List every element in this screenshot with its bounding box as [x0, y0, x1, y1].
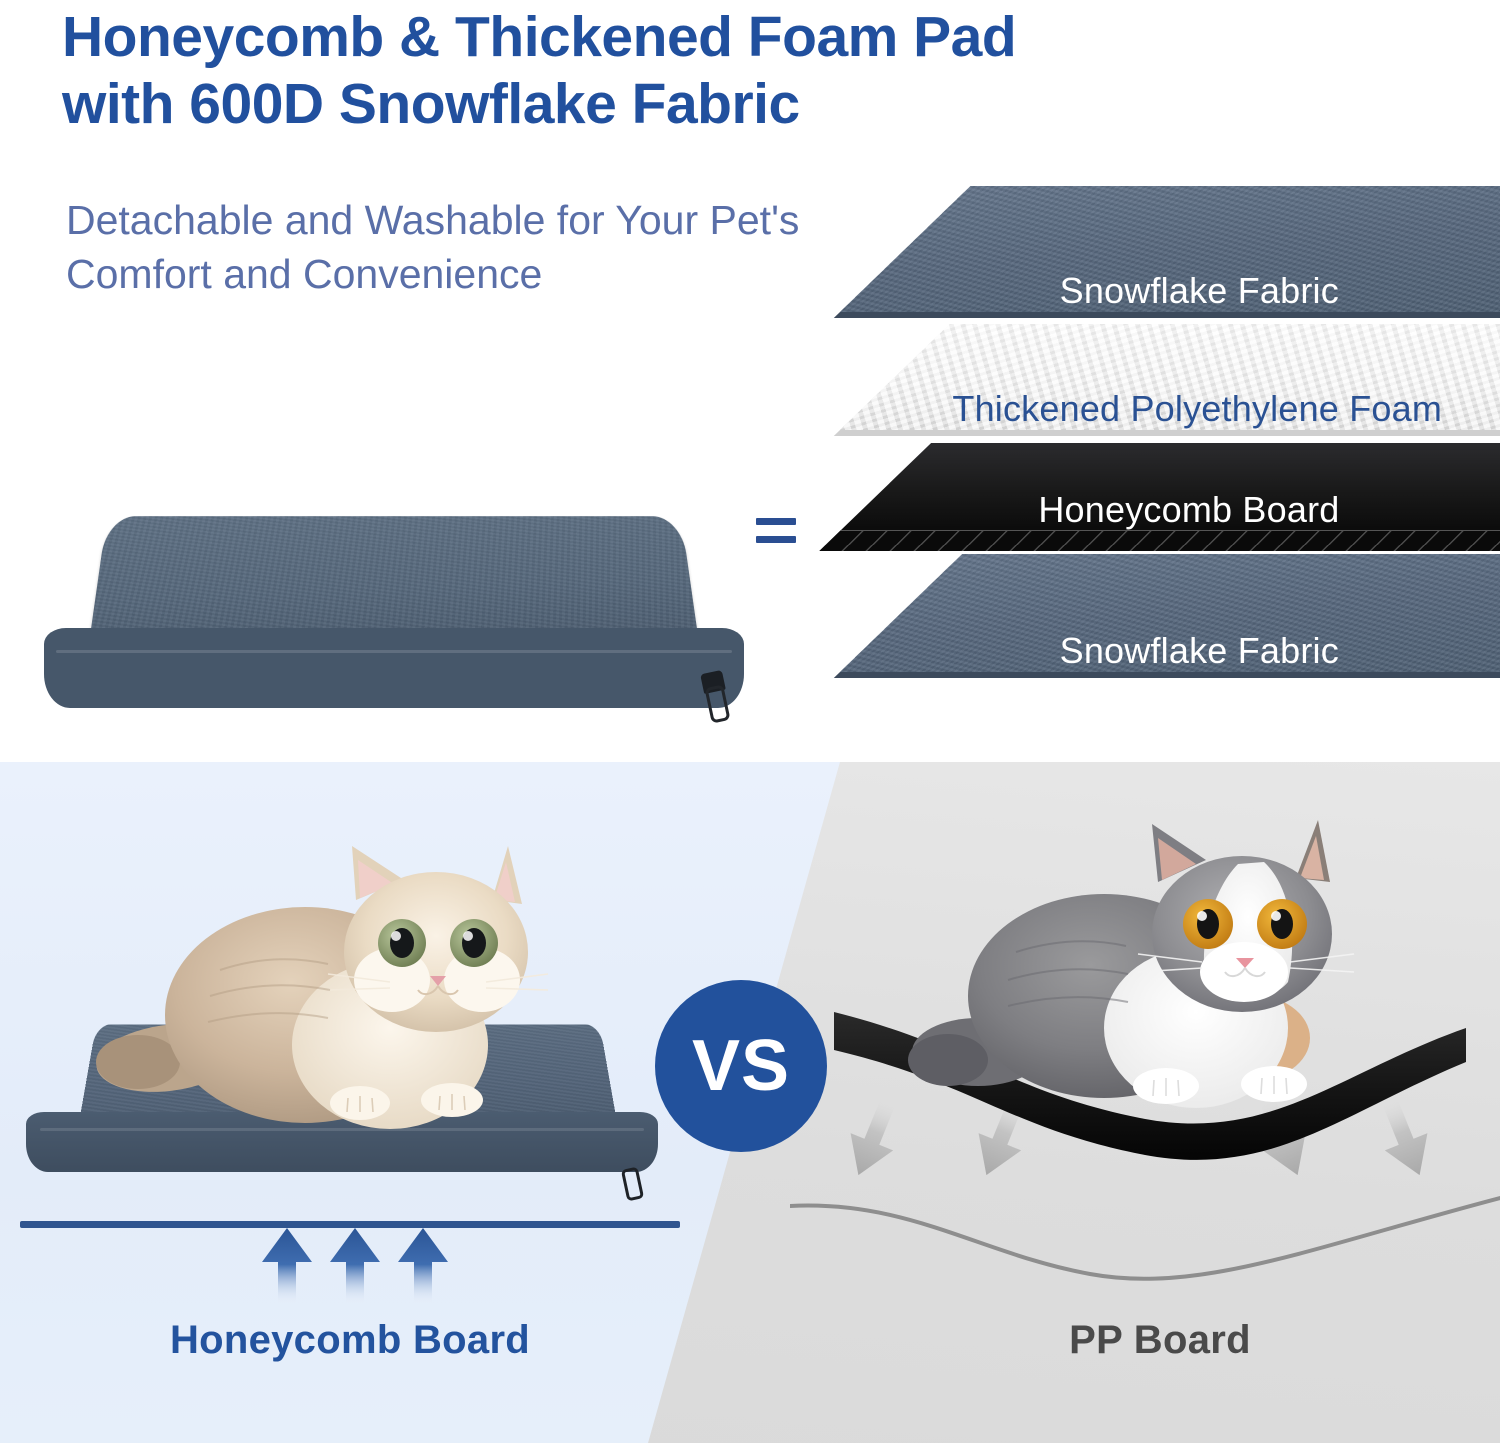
equals-icon: [756, 518, 796, 543]
zipper-pull-icon: [621, 1167, 644, 1202]
equals-bar-bottom: [756, 536, 796, 543]
layer-label-0: Snowflake Fabric: [819, 186, 1500, 332]
mat-side-edge: [44, 628, 744, 708]
equals-bar-top: [756, 518, 796, 525]
right-comparison-scene: [800, 762, 1500, 1282]
gray-cat-image: [866, 806, 1426, 1116]
page-subtitle-line2: Comfort and Convenience: [66, 247, 946, 301]
vs-badge: VS: [655, 980, 827, 1152]
right-caption: PP Board: [940, 1318, 1380, 1363]
left-caption: Honeycomb Board: [124, 1318, 576, 1363]
left-comparison-scene: [0, 762, 700, 1262]
page-title: Honeycomb & Thickened Foam Pad with 600D…: [62, 4, 1462, 138]
mat-seam: [56, 650, 732, 653]
cream-cat-image: [60, 830, 620, 1130]
layer-polyethylene-foam: Thickened Polyethylene Foam: [840, 324, 1500, 430]
layer-label-3: Snowflake Fabric: [819, 554, 1500, 692]
page-subtitle-line1: Detachable and Washable for Your Pet's: [66, 197, 799, 243]
layer-honeycomb-board: Honeycomb Board: [840, 443, 1500, 531]
layer-snowflake-fabric-top: Snowflake Fabric: [840, 186, 1500, 312]
page-subtitle: Detachable and Washable for Your Pet's C…: [66, 193, 946, 301]
honeycomb-cells-icon: [819, 530, 1500, 551]
pet-mat-photo: [36, 500, 742, 710]
layer-snowflake-fabric-bottom: Snowflake Fabric: [840, 554, 1500, 672]
top-section: Honeycomb & Thickened Foam Pad with 600D…: [0, 0, 1500, 762]
page-title-line1: Honeycomb & Thickened Foam Pad: [62, 5, 1016, 69]
layer-label-1: Thickened Polyethylene Foam: [817, 324, 1500, 452]
infographic-root: Honeycomb & Thickened Foam Pad with 600D…: [0, 0, 1500, 1443]
exploded-layer-stack: Snowflake Fabric Thickened Polyethylene …: [840, 186, 1500, 686]
page-title-line2: with 600D Snowflake Fabric: [62, 71, 1462, 138]
